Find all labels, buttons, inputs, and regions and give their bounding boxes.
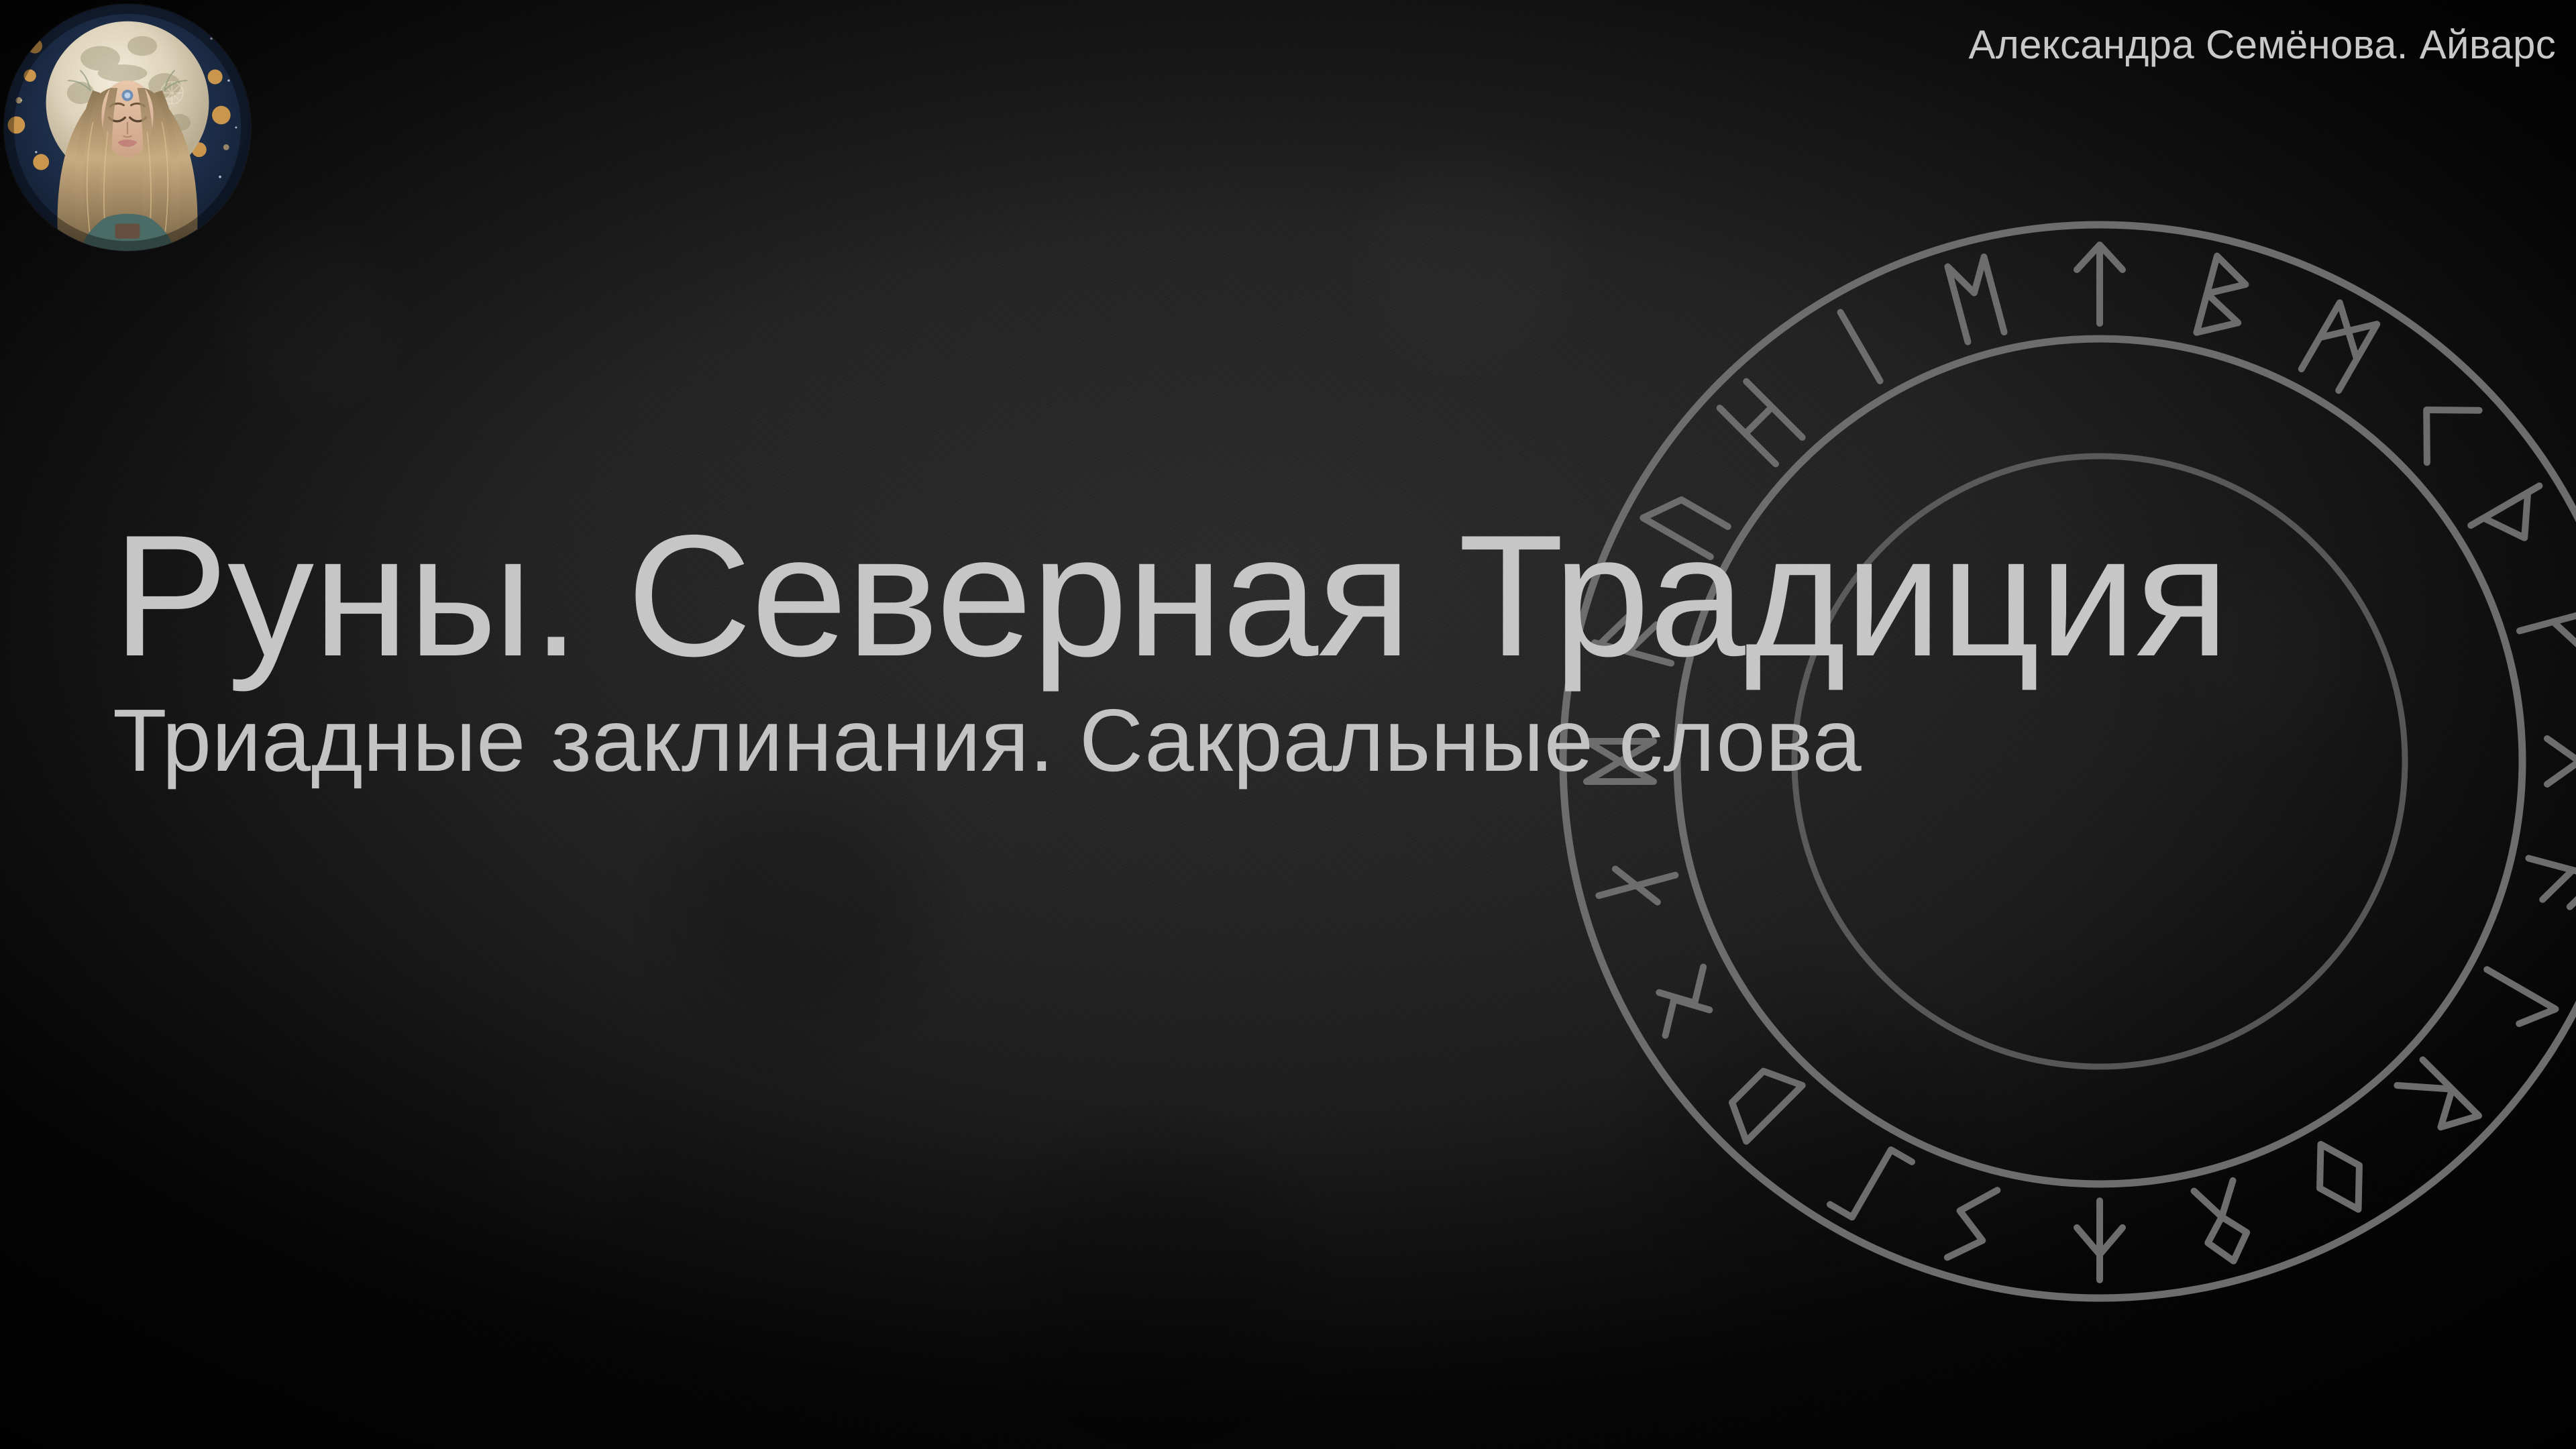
- byline-text: Александра Семёнова. Айварс: [1968, 23, 2556, 67]
- page-title: Руны. Северная Традиция: [113, 507, 2461, 684]
- slide-canvas: Александра Семёнова. Айварс Руны. Северн…: [0, 0, 2576, 1449]
- title-block: Руны. Северная Традиция Триадные заклина…: [113, 507, 2461, 789]
- page-subtitle: Триадные заклинания. Сакральные слова: [113, 692, 2461, 789]
- moon-goddess-avatar-art: [4, 4, 251, 251]
- avatar: [4, 4, 251, 251]
